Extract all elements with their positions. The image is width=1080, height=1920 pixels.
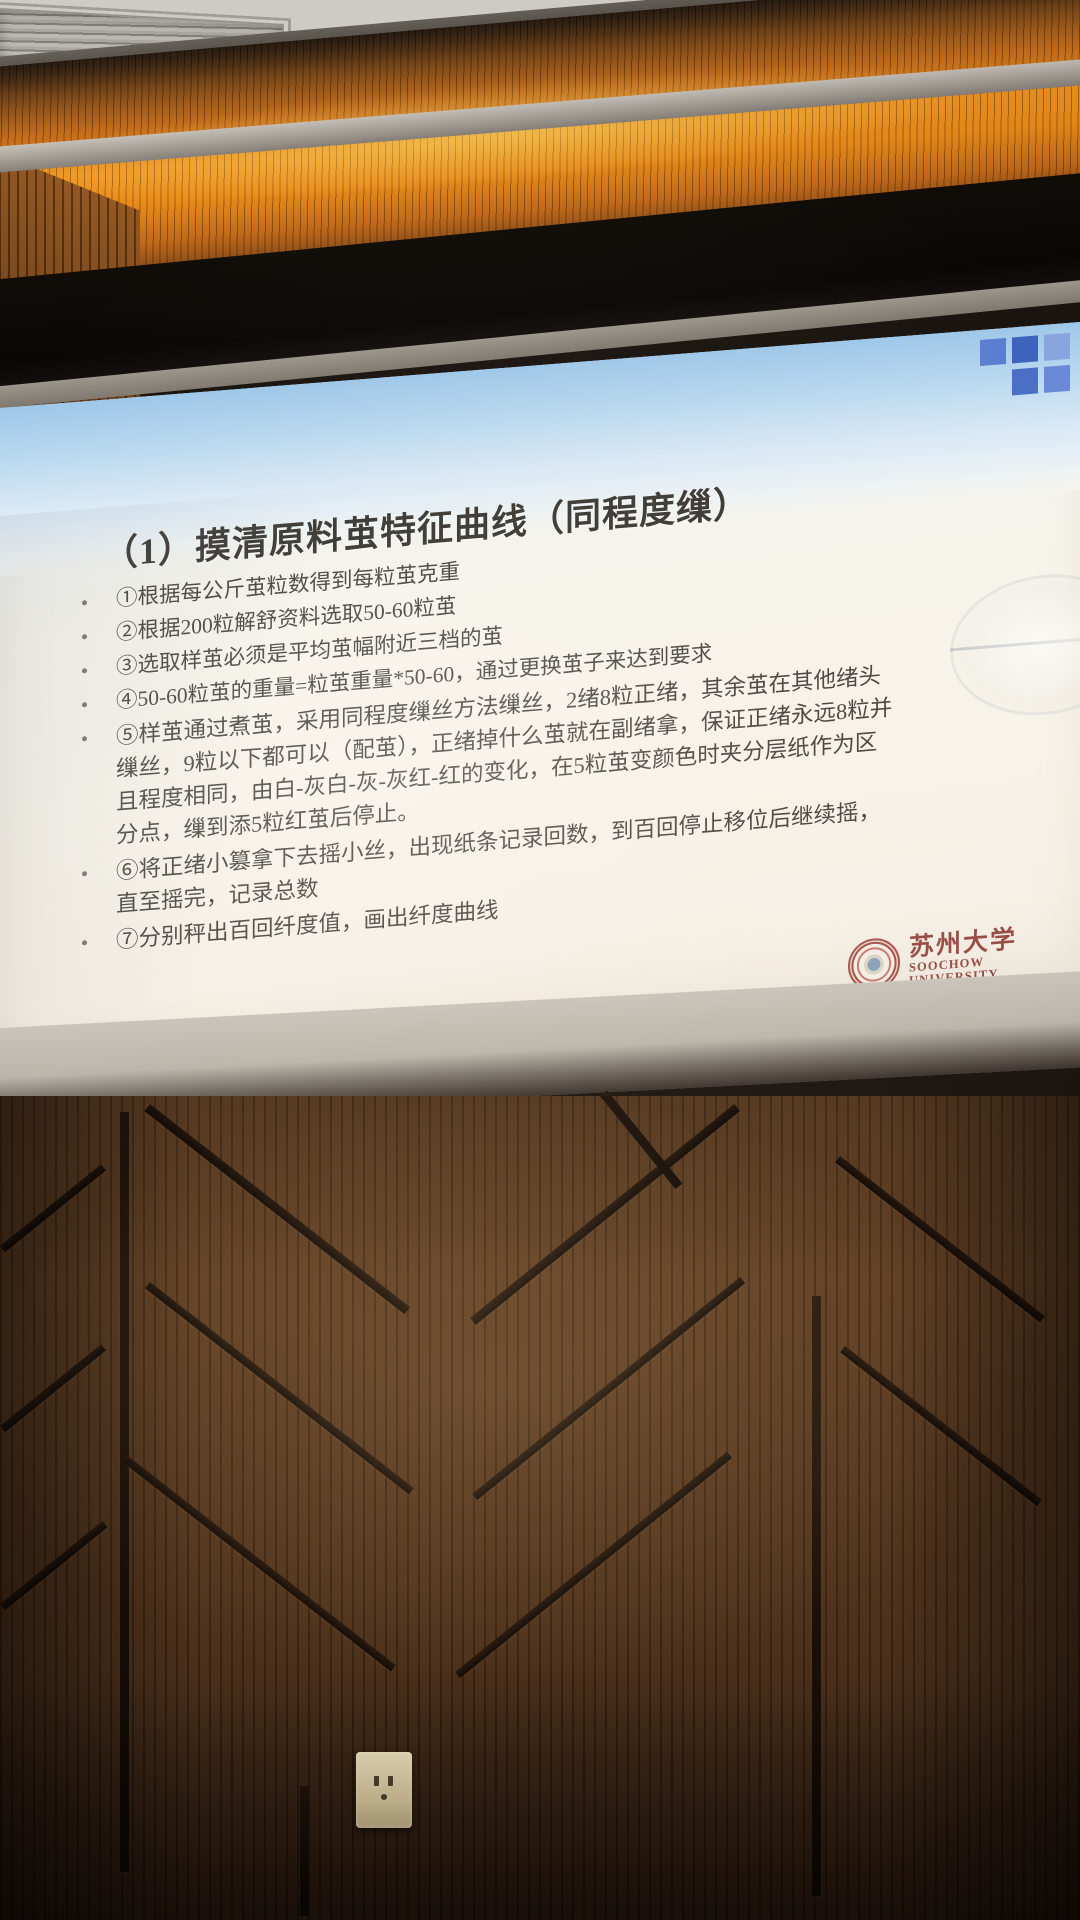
lecture-hall-photo: （1）摸清原料茧特征曲线（同程度缫） ①根据每公斤茧粒数得到每粒茧克重 ②根据2… [0,0,1080,1920]
slide-decoration-squares [944,329,1074,417]
projection-screen-area: （1）摸清原料茧特征曲线（同程度缫） ①根据每公斤茧粒数得到每粒茧克重 ②根据2… [0,214,1080,1080]
power-outlet-icon [356,1752,412,1828]
projection-screen: （1）摸清原料茧特征曲线（同程度缫） ①根据每公斤茧粒数得到每粒茧克重 ②根据2… [0,320,1080,1080]
slide-bullet-list: ①根据每公斤茧粒数得到每粒茧克重 ②根据200粒解舒资料选取50-60粒茧 ③选… [64,522,894,964]
wood-panel-wall [0,1096,1080,1920]
